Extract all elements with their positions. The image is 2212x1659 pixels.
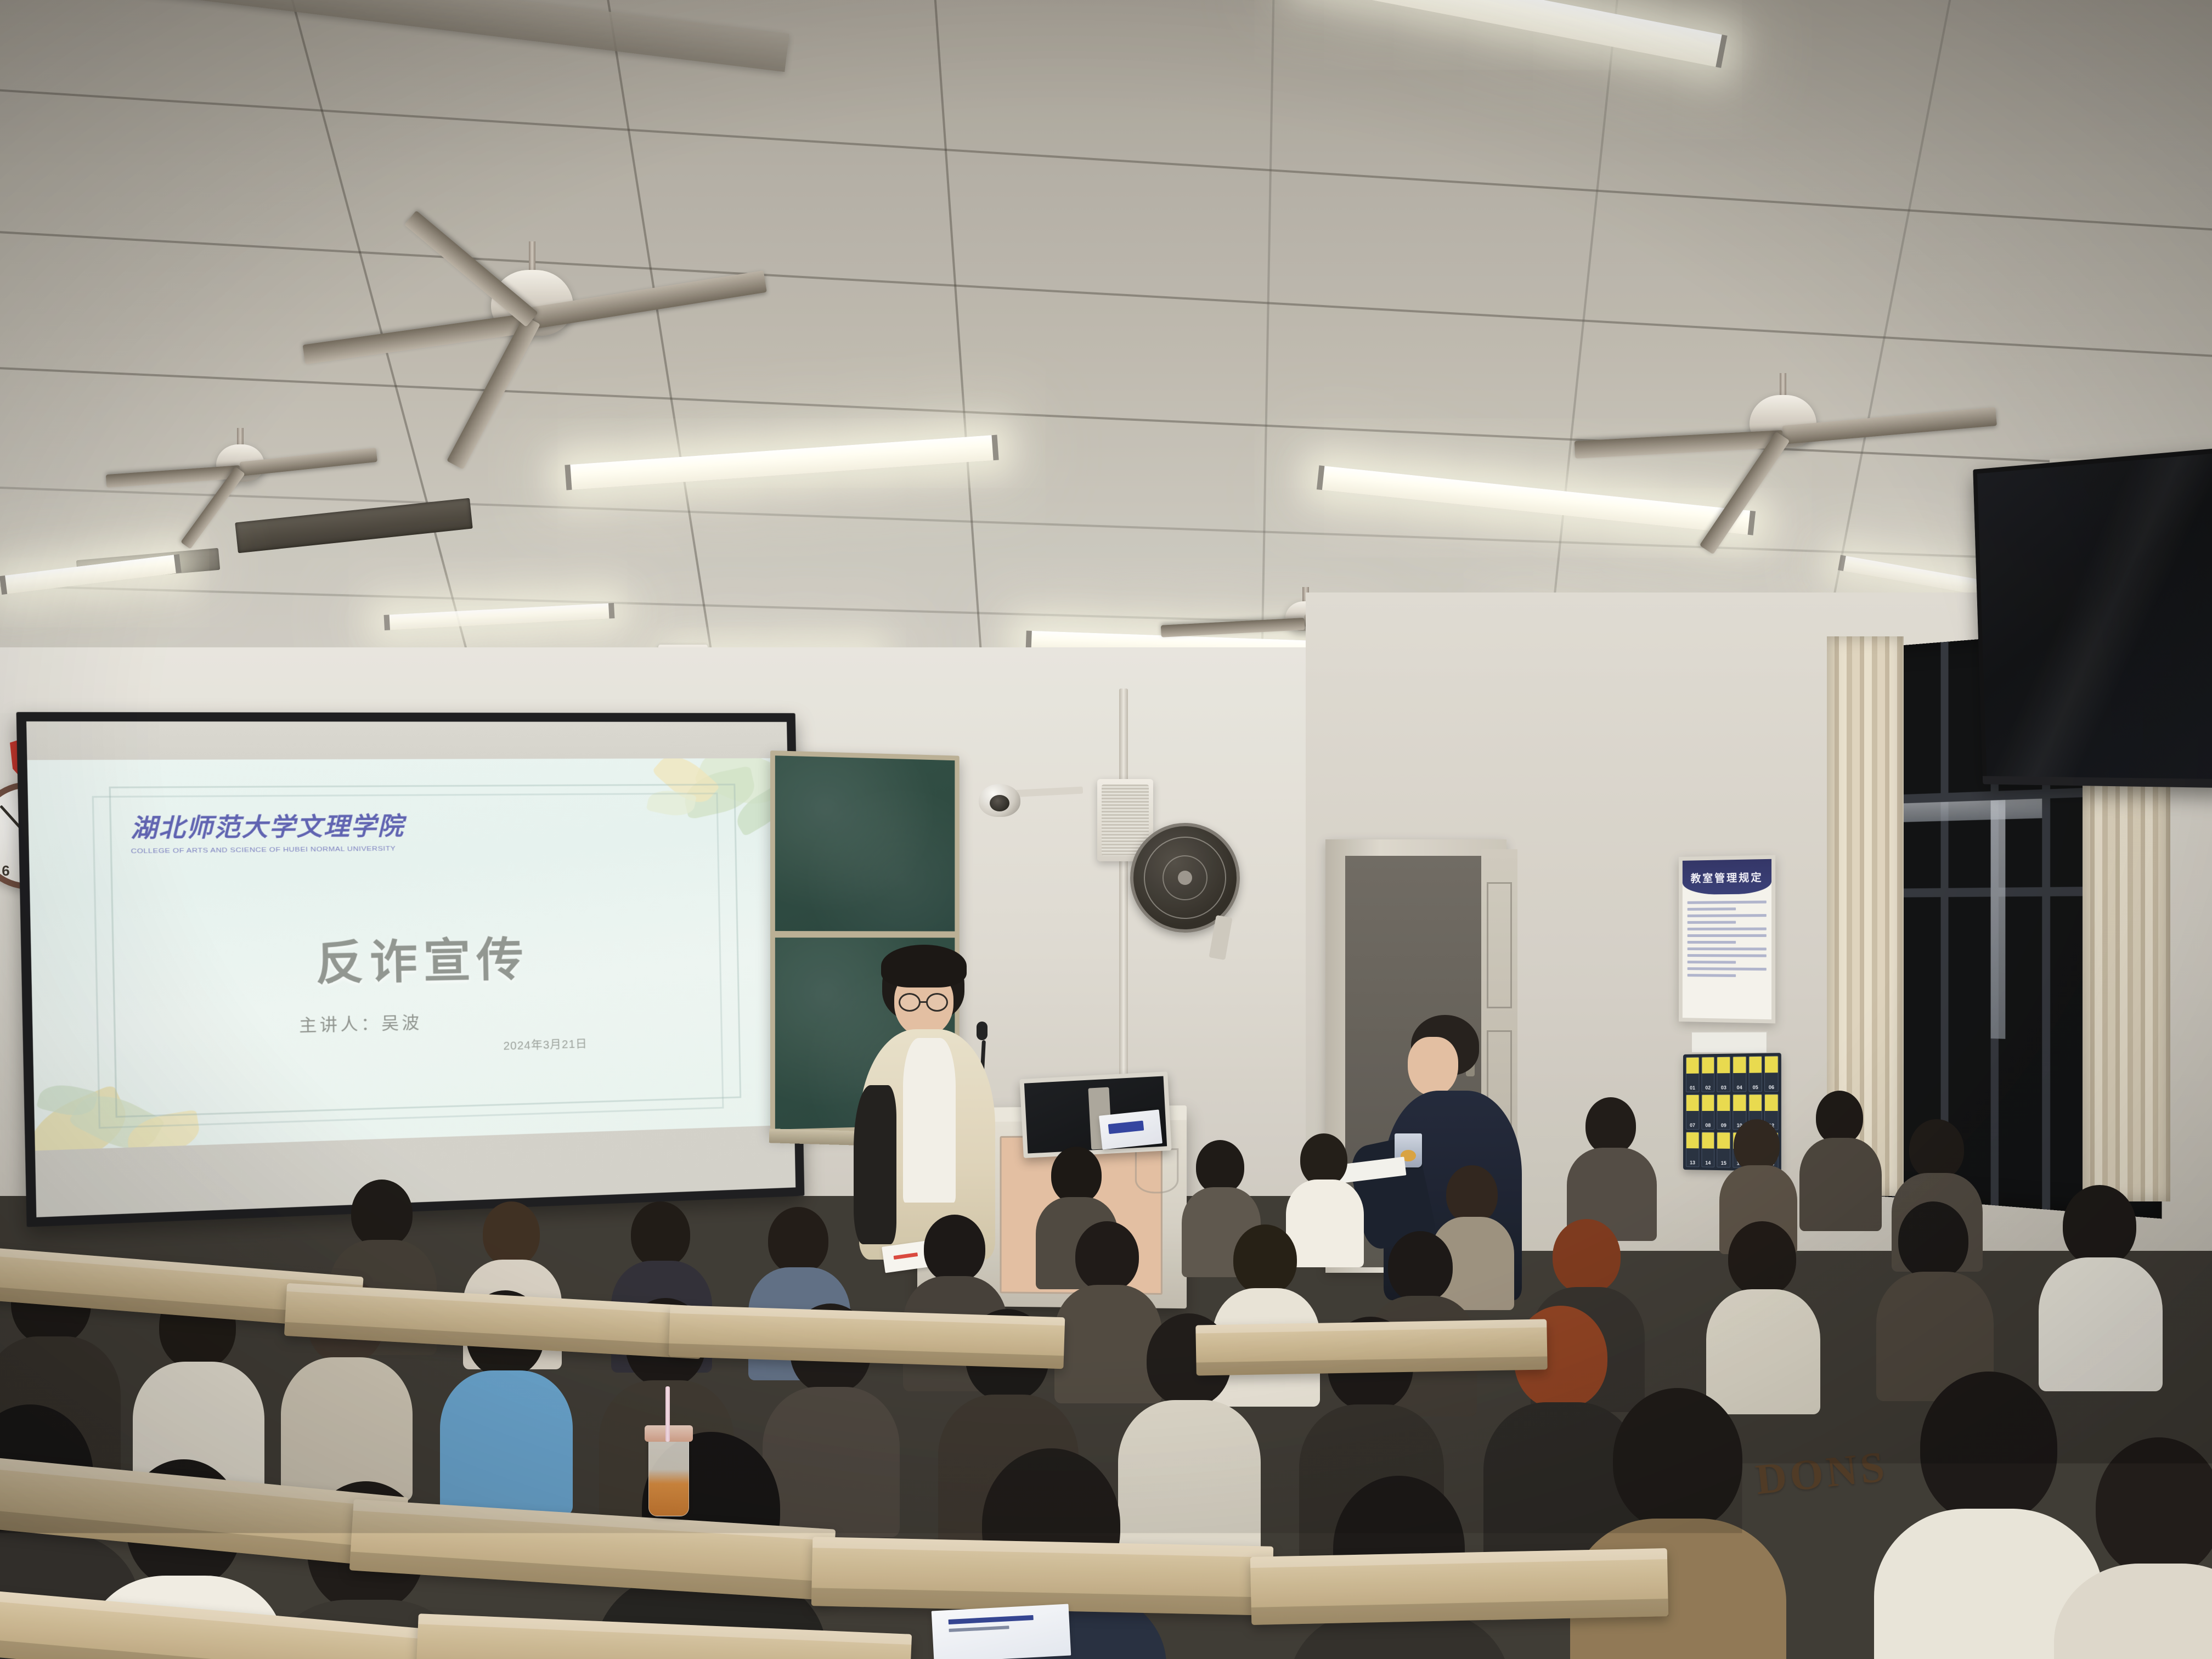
pocket: 09 (1717, 1094, 1731, 1130)
presentation-slide: 湖北师范大学文理学院 COLLEGE OF ARTS AND SCIENCE O… (27, 758, 794, 1150)
pocket: 02 (1701, 1057, 1714, 1092)
presenter-sleeve (854, 1085, 896, 1244)
projection-screen[interactable]: 湖北师范大学文理学院 COLLEGE OF ARTS AND SCIENCE O… (16, 712, 805, 1227)
wall-pipe (1119, 689, 1128, 1084)
ceiling-fan (285, 241, 779, 395)
pocket: 13 (1686, 1132, 1699, 1167)
presenter-shirt (903, 1038, 956, 1203)
glasses-bridge (919, 1001, 927, 1003)
desk-row (1250, 1548, 1668, 1625)
pocket-chart-caption (1691, 1031, 1768, 1054)
clock-numeral: 6 (2, 862, 9, 879)
pocket: 05 (1748, 1056, 1762, 1092)
pocket: 08 (1701, 1094, 1714, 1130)
rules-poster-heading: 教室管理规定 (1691, 869, 1763, 885)
wall-fan[interactable] (1130, 823, 1251, 944)
ceiling-beam (0, 0, 789, 72)
officer-face (1408, 1037, 1458, 1096)
pocket: 07 (1686, 1094, 1699, 1130)
desk-row (1195, 1319, 1548, 1375)
slide-speaker: 主讲人：吴波 (299, 1008, 422, 1036)
ceiling-fan (99, 428, 406, 527)
pocket: 04 (1733, 1056, 1746, 1092)
bubble-tea-cup[interactable] (648, 1435, 689, 1516)
slide-date: 2024年3月21日 (503, 1035, 588, 1053)
university-logo-cn: 湖北师范大学文理学院 (130, 806, 405, 845)
desk-row (811, 1537, 1273, 1616)
pocket: 15 (1717, 1132, 1731, 1167)
lectern-motif-right (1135, 1148, 1178, 1193)
university-logo: 湖北师范大学文理学院 COLLEGE OF ARTS AND SCIENCE O… (130, 806, 405, 855)
classroom-rules-poster: 教室管理规定 (1679, 855, 1775, 1023)
ceiling-fan (1547, 373, 2019, 494)
glasses-lens-left (899, 993, 921, 1012)
pocket: 14 (1701, 1132, 1714, 1167)
wall-tv[interactable] (1973, 448, 2212, 788)
presenter-fringe (881, 945, 967, 988)
handout-on-desk[interactable] (932, 1604, 1071, 1659)
jacket-dons-text: DONS (1753, 1442, 1890, 1505)
pocket: 03 (1717, 1057, 1731, 1092)
lecture-hall-photo: 12 1 2 3 4 5 6 (0, 0, 2212, 1659)
pocket: 01 (1686, 1057, 1699, 1092)
glasses-lens-right (926, 993, 948, 1012)
security-camera (975, 782, 1085, 848)
handout-stack[interactable] (1099, 1109, 1163, 1149)
pocket: 06 (1764, 1056, 1778, 1092)
